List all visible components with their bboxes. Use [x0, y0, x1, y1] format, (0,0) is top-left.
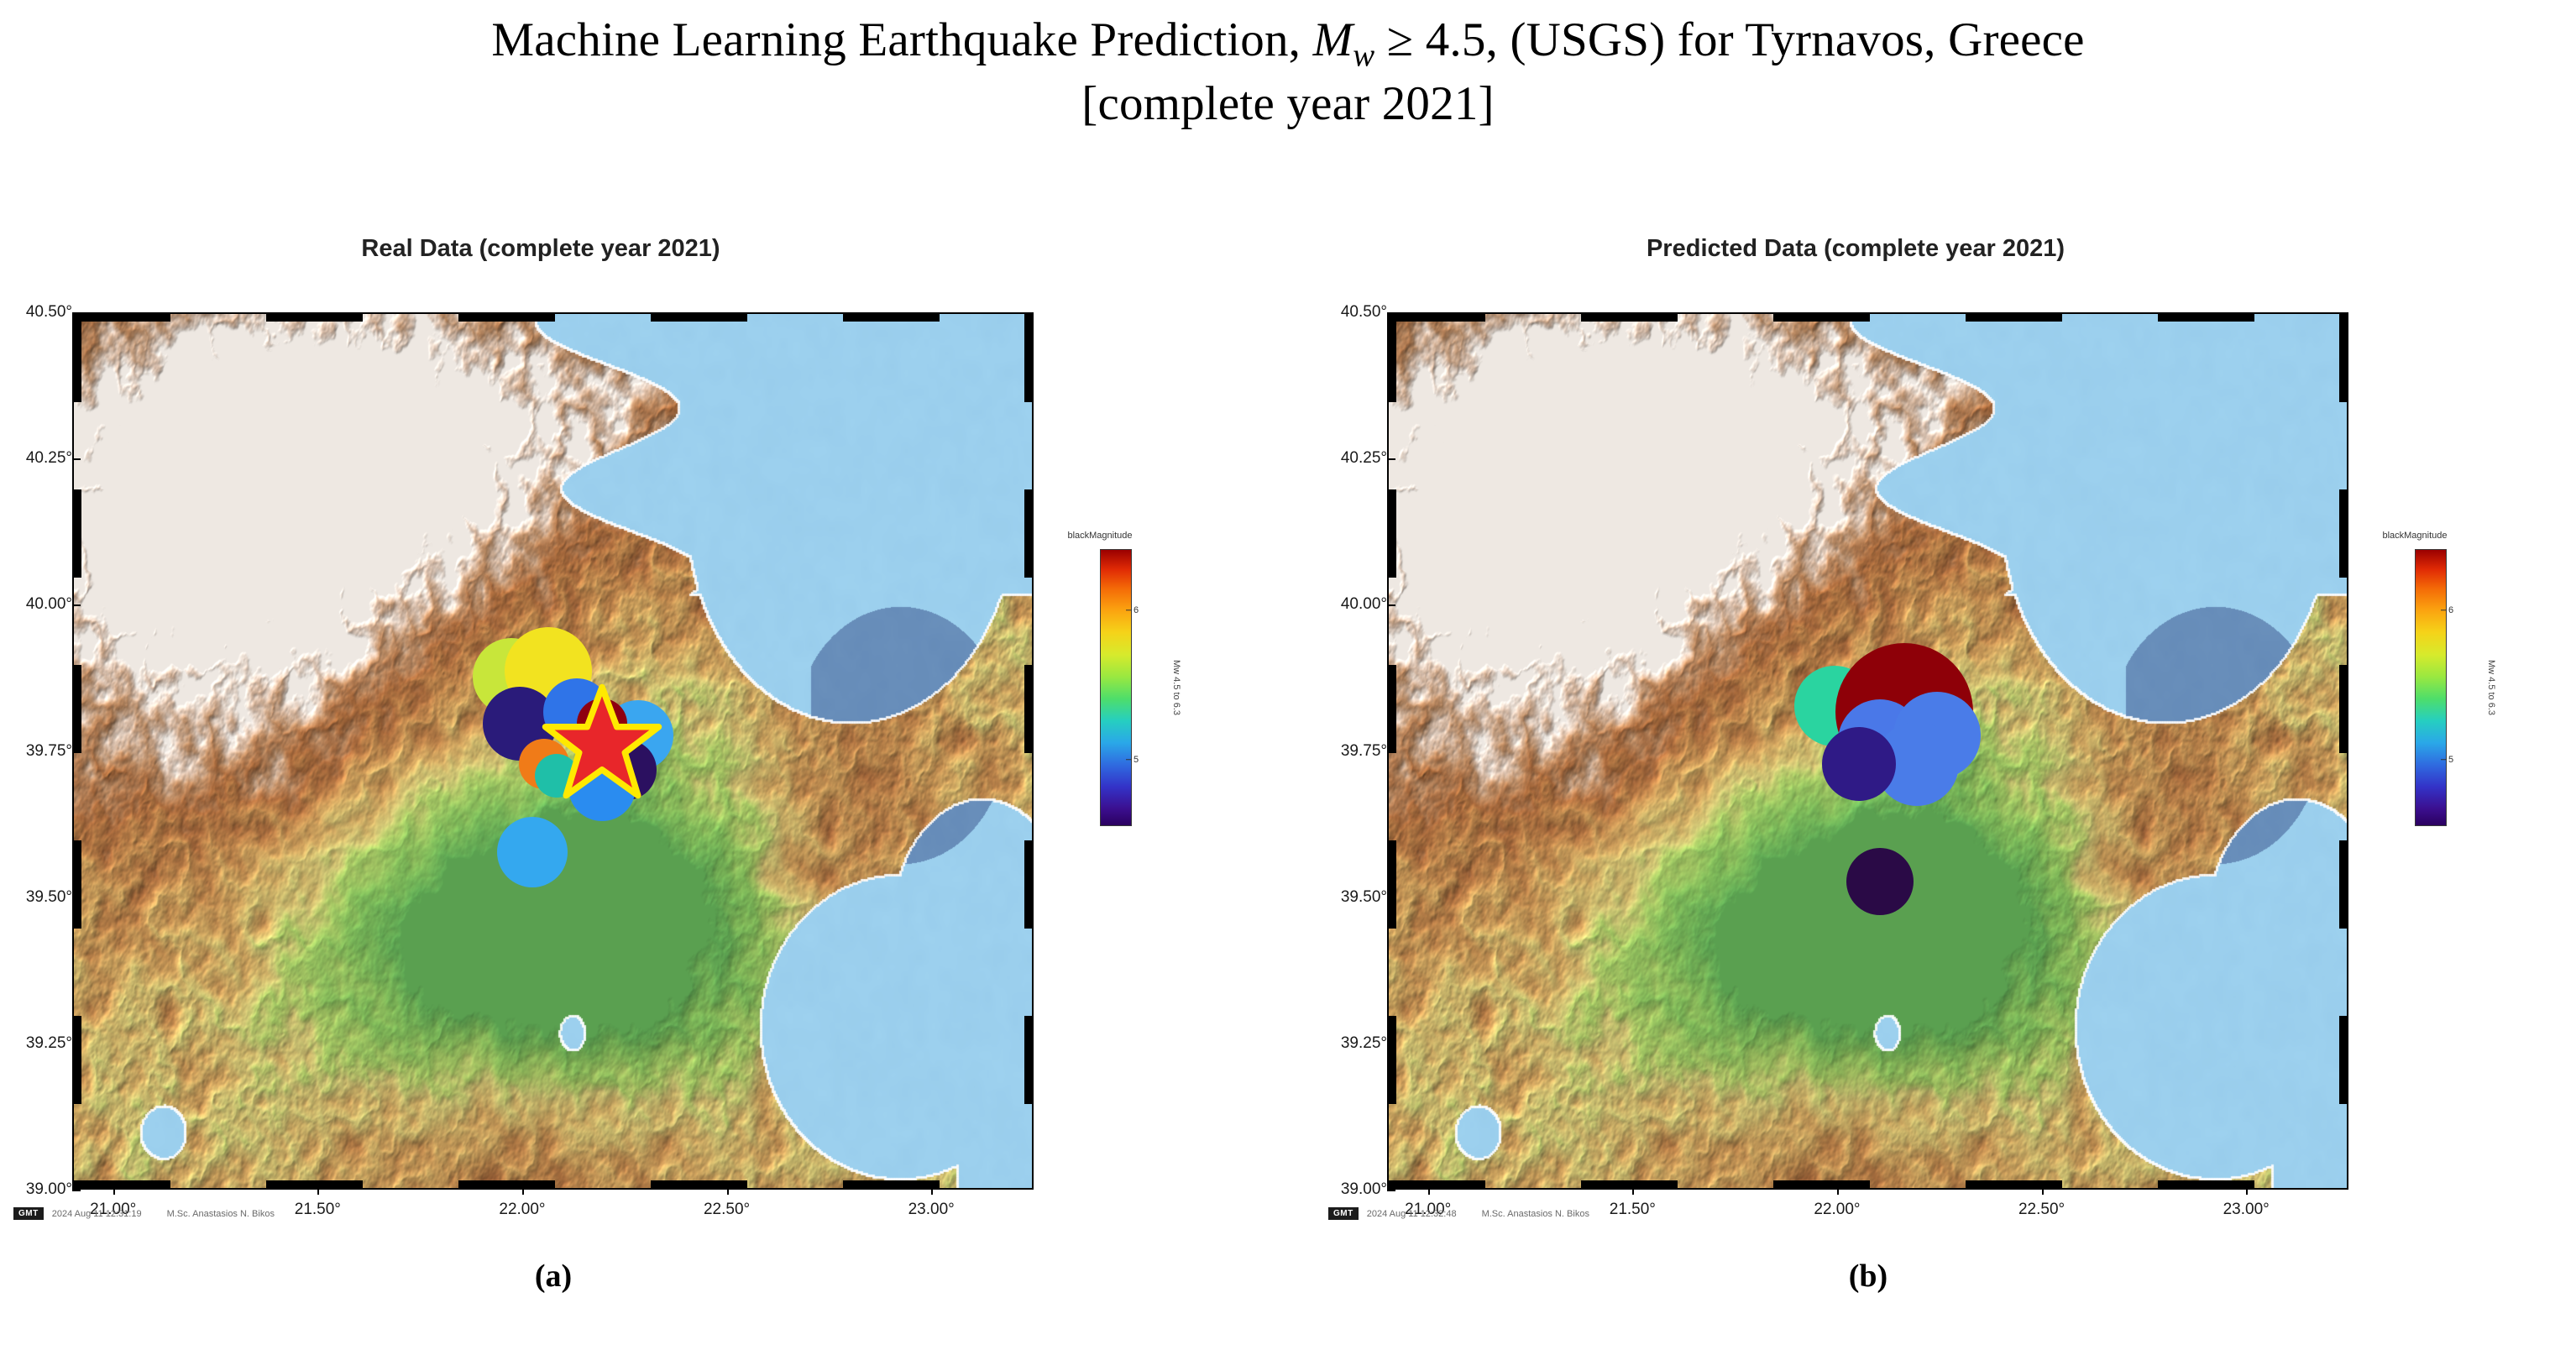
- latitude-tick-mark: [72, 458, 81, 460]
- latitude-tick-label: 40.25°: [17, 449, 72, 468]
- magnitude-symbol: Mw: [1313, 13, 1375, 66]
- latitude-tick-label: 40.00°: [17, 595, 72, 614]
- longitude-tick-label: 21.50°: [267, 1201, 368, 1219]
- panel-a-map[interactable]: [72, 312, 1034, 1190]
- gmt-author-a: M.Sc. Anastasios N. Bikos: [167, 1209, 275, 1219]
- longitude-tick-label: 22.50°: [1992, 1201, 2092, 1219]
- latitude-tick-label: 40.50°: [1332, 303, 1387, 322]
- latitude-tick-mark: [1387, 604, 1395, 606]
- longitude-tick-label: 23.00°: [881, 1201, 982, 1219]
- colorbar-tick-label: 6: [1134, 605, 1139, 615]
- title-text-part2: ≥ 4.5, (USGS) for Tyrnavos, Greece: [1374, 13, 2084, 66]
- figure-title: Machine Learning Earthquake Prediction, …: [0, 0, 2576, 133]
- longitude-tick-mark: [2042, 1187, 2044, 1195]
- longitude-tick-mark: [2246, 1187, 2248, 1195]
- gmt-date-a: 2024 Aug 11 12:31:19: [52, 1209, 142, 1219]
- longitude-tick-mark: [1837, 1187, 1839, 1195]
- panel-b-mapblock: 40.50°40.25°40.00°39.75°39.50°39.25°39.0…: [1327, 272, 2410, 1204]
- colorbar-tick-label: 6: [2448, 605, 2453, 615]
- longitude-tick-label: 22.00°: [1787, 1201, 1887, 1219]
- mainshock-star-icon[interactable]: [539, 682, 665, 812]
- latitude-tick-label: 39.25°: [17, 1034, 72, 1053]
- panel-predicted-data: Predicted Data (complete year 2021) 40.5…: [1327, 235, 2576, 1243]
- longitude-tick-label: 22.00°: [472, 1201, 573, 1219]
- panel-a-mapblock: 40.50°40.25°40.00°39.75°39.50°39.25°39.0…: [12, 272, 1095, 1204]
- mw-letter: M: [1313, 13, 1353, 66]
- latitude-tick-label: 39.25°: [1332, 1034, 1387, 1053]
- colorbar-tick-label: 5: [2448, 755, 2453, 765]
- latitude-tick-label: 39.00°: [17, 1180, 72, 1199]
- latitude-tick-mark: [1387, 312, 1395, 314]
- latitude-tick-label: 39.00°: [1332, 1180, 1387, 1199]
- latitude-tick-mark: [1387, 897, 1395, 899]
- latitude-tick-label: 40.25°: [1332, 449, 1387, 468]
- colorbar-b-axis-label: Mw 4.5 to 6.3: [2486, 660, 2496, 715]
- panel-a-title: Real Data (complete year 2021): [12, 235, 1070, 263]
- earthquake-markers-b: [1389, 314, 2347, 1188]
- longitude-tick-mark: [317, 1187, 319, 1195]
- earthquake-marker[interactable]: [1846, 848, 1914, 915]
- latitude-axis-a: 40.50°40.25°40.00°39.75°39.50°39.25°39.0…: [12, 312, 72, 1190]
- title-line-2: [complete year 2021]: [0, 76, 2576, 133]
- latitude-tick-label: 40.50°: [17, 303, 72, 322]
- latitude-tick-mark: [72, 1190, 81, 1191]
- title-text-part1: Machine Learning Earthquake Prediction,: [491, 13, 1312, 66]
- earthquake-marker[interactable]: [497, 817, 568, 887]
- latitude-tick-label: 39.75°: [17, 742, 72, 761]
- latitude-tick-mark: [72, 312, 81, 314]
- latitude-tick-mark: [1387, 751, 1395, 753]
- longitude-tick-label: 22.50°: [677, 1201, 778, 1219]
- longitude-tick-mark: [522, 1187, 524, 1195]
- latitude-tick-mark: [72, 604, 81, 606]
- colorbar-b-gradient: [2415, 549, 2447, 826]
- longitude-tick-label: 21.50°: [1582, 1201, 1683, 1219]
- gmt-date-b: 2024 Aug 11 12:32:48: [1367, 1209, 1457, 1219]
- colorbar-a-axis-label: Mw 4.5 to 6.3: [1171, 660, 1181, 715]
- longitude-tick-mark: [1632, 1187, 1634, 1195]
- longitude-tick-mark: [727, 1187, 729, 1195]
- gmt-logo-a: GMT: [13, 1207, 44, 1220]
- earthquake-marker[interactable]: [1822, 727, 1896, 801]
- latitude-tick-label: 39.50°: [1332, 888, 1387, 907]
- latitude-tick-mark: [1387, 1044, 1395, 1045]
- latitude-tick-label: 39.50°: [17, 888, 72, 907]
- colorbar-a-title: blackMagnitude: [1067, 531, 1132, 541]
- longitude-tick-mark: [931, 1187, 933, 1195]
- panel-real-data: Real Data (complete year 2021) 40.50°40.…: [12, 235, 1271, 1243]
- latitude-tick-mark: [72, 1044, 81, 1045]
- panel-b-map[interactable]: [1387, 312, 2348, 1190]
- longitude-tick-label: 23.00°: [2196, 1201, 2296, 1219]
- latitude-axis-b: 40.50°40.25°40.00°39.75°39.50°39.25°39.0…: [1327, 312, 1387, 1190]
- subcaption-b: (b): [1742, 1258, 1994, 1295]
- subcaption-a: (a): [427, 1258, 679, 1295]
- latitude-tick-label: 39.75°: [1332, 742, 1387, 761]
- latitude-tick-mark: [72, 751, 81, 753]
- panel-b-title: Predicted Data (complete year 2021): [1327, 235, 2385, 263]
- latitude-tick-mark: [1387, 1190, 1395, 1191]
- colorbar-tick-label: 5: [1134, 755, 1139, 765]
- latitude-tick-mark: [72, 897, 81, 899]
- latitude-tick-mark: [1387, 458, 1395, 460]
- latitude-tick-label: 40.00°: [1332, 595, 1387, 614]
- longitude-tick-mark: [1428, 1187, 1430, 1195]
- gmt-logo-b: GMT: [1328, 1207, 1359, 1220]
- colorbar-a-gradient: [1100, 549, 1132, 826]
- colorbar-b-title: blackMagnitude: [2382, 531, 2447, 541]
- earthquake-markers-a: [74, 314, 1032, 1188]
- gmt-footer-a: GMT 2024 Aug 11 12:31:19 M.Sc. Anastasio…: [13, 1207, 275, 1220]
- gmt-author-b: M.Sc. Anastasios N. Bikos: [1482, 1209, 1589, 1219]
- mw-subscript: w: [1353, 37, 1374, 73]
- gmt-footer-b: GMT 2024 Aug 11 12:32:48 M.Sc. Anastasio…: [1328, 1207, 1589, 1220]
- longitude-tick-mark: [113, 1187, 115, 1195]
